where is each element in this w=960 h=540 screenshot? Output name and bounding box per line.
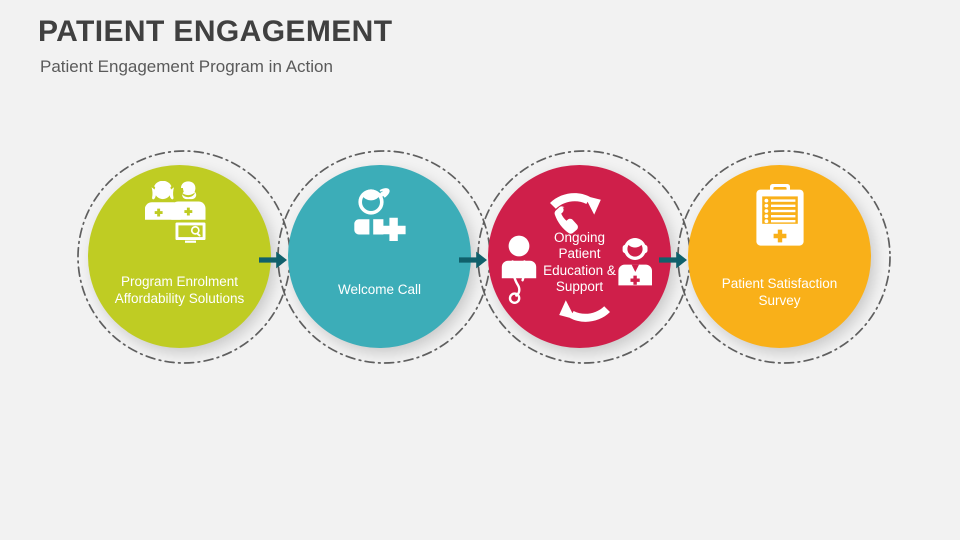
arrow-right-icon-3 — [658, 247, 688, 273]
process-step-4-label: Patient Satisfaction Survey — [722, 276, 838, 309]
process-flow-diagram: Program Enrolment Affordability Solution… — [0, 110, 960, 410]
headset-agent-with-medical-cross-icon — [349, 187, 411, 241]
process-step-4[interactable]: Patient Satisfaction Survey — [688, 165, 871, 348]
slide-header: PATIENT ENGAGEMENT Patient Engagement Pr… — [38, 16, 392, 77]
slide-canvas: PATIENT ENGAGEMENT Patient Engagement Pr… — [0, 0, 960, 540]
process-step-2[interactable]: Welcome Call — [288, 165, 471, 348]
arrow-right-icon-2 — [458, 247, 488, 273]
process-step-3-label: Ongoing Patient Education & Support — [543, 230, 616, 296]
page-title: PATIENT ENGAGEMENT — [38, 16, 392, 48]
process-step-1-label: Program Enrolment Affordability Solution… — [115, 274, 245, 307]
process-step-3[interactable]: Ongoing Patient Education & Support — [488, 165, 671, 348]
process-step-2-label: Welcome Call — [338, 282, 421, 298]
two-medical-staff-with-monitor-icon — [145, 181, 215, 243]
arrow-right-icon-1 — [258, 247, 288, 273]
process-step-1[interactable]: Program Enrolment Affordability Solution… — [88, 165, 271, 348]
page-subtitle: Patient Engagement Program in Action — [40, 57, 392, 77]
clipboard-checklist-medical-icon — [753, 184, 807, 246]
